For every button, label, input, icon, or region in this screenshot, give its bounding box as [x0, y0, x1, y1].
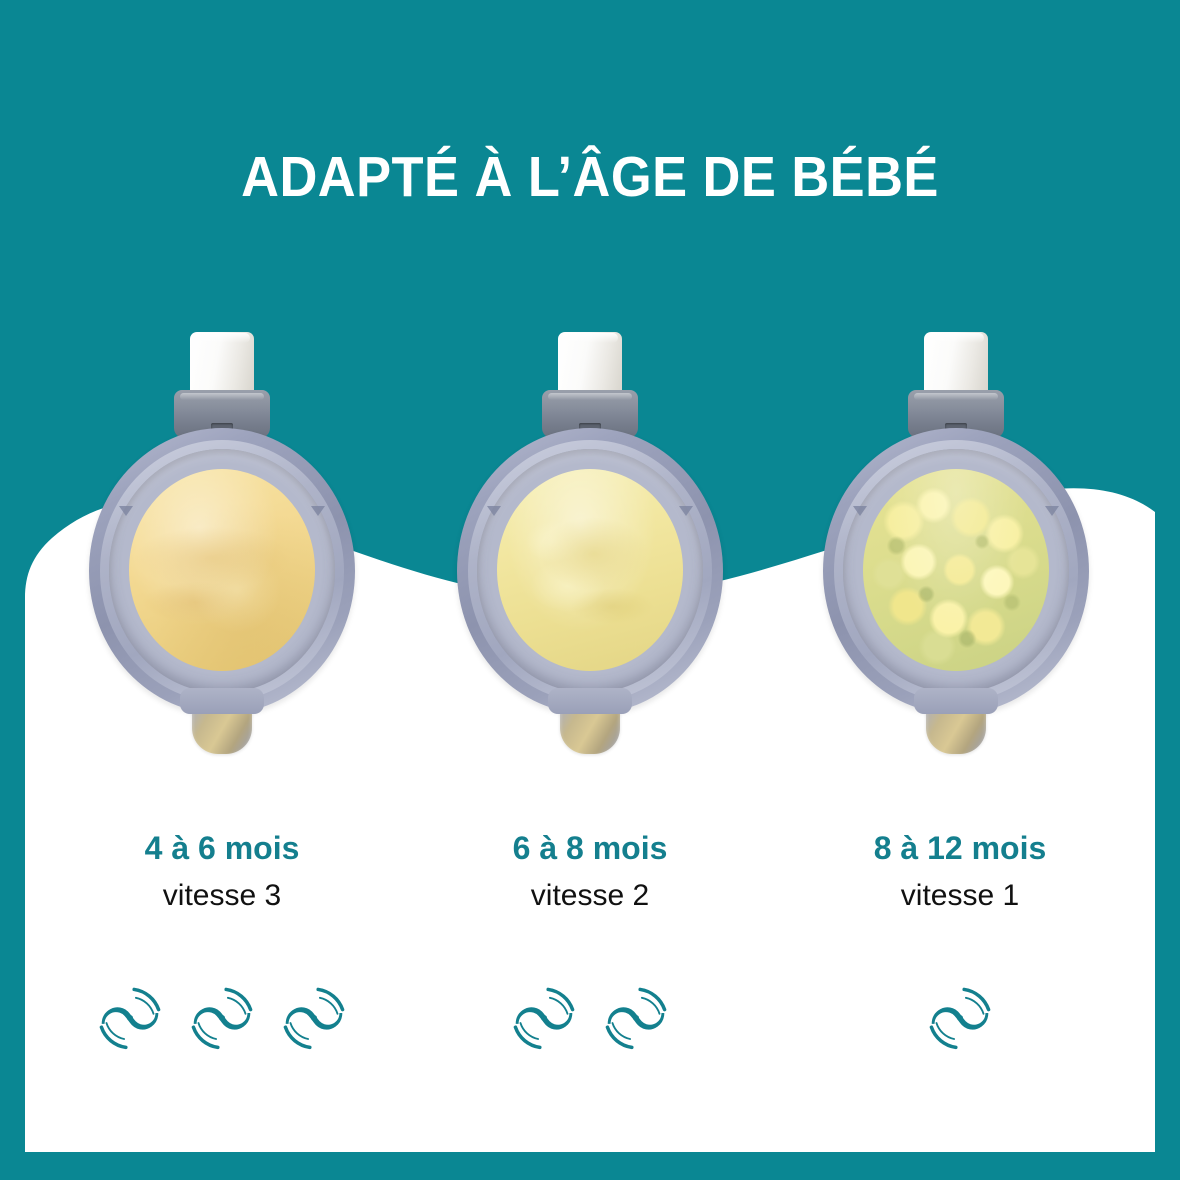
lid-handle-icon — [558, 332, 622, 394]
blade-speed-icon — [918, 976, 1002, 1060]
lid-handle-icon — [190, 332, 254, 394]
blender-spout — [192, 698, 252, 754]
infographic-root: ADAPTÉ À L’ÂGE DE BÉBÉ — [0, 0, 1180, 1180]
blade-speed-icon — [594, 976, 678, 1060]
blade-speed-icon — [88, 976, 172, 1060]
blade-speed-icon — [180, 976, 264, 1060]
age-range-label: 8 à 12 mois — [790, 828, 1130, 868]
speed-label: vitesse 1 — [790, 874, 1130, 918]
blender-bowl — [823, 428, 1089, 714]
blender-jar-3 — [823, 330, 1089, 760]
blade-speed-icon — [272, 976, 356, 1060]
speed-label: vitesse 2 — [420, 874, 760, 918]
column-3: 8 à 12 mois vitesse 1 — [790, 828, 1130, 918]
speed-icons-1 — [52, 976, 392, 1060]
blender-jar-2 — [457, 330, 723, 760]
puree-smooth — [129, 469, 315, 671]
age-range-label: 6 à 8 mois — [420, 828, 760, 868]
blender-bowl — [89, 428, 355, 714]
lid-handle-icon — [924, 332, 988, 394]
blender-bowl — [457, 428, 723, 714]
speed-label: vitesse 3 — [52, 874, 392, 918]
puree-medium — [497, 469, 683, 671]
blender-row — [0, 330, 1180, 770]
column-2: 6 à 8 mois vitesse 2 — [420, 828, 760, 918]
column-1: 4 à 6 mois vitesse 3 — [52, 828, 392, 918]
blender-spout — [926, 698, 986, 754]
blade-speed-icon — [502, 976, 586, 1060]
speed-icons-3 — [790, 976, 1130, 1060]
age-range-label: 4 à 6 mois — [52, 828, 392, 868]
blender-spout — [560, 698, 620, 754]
blender-jar-1 — [89, 330, 355, 760]
puree-chunky — [863, 469, 1049, 671]
page-title: ADAPTÉ À L’ÂGE DE BÉBÉ — [47, 144, 1133, 210]
speed-icons-2 — [420, 976, 760, 1060]
